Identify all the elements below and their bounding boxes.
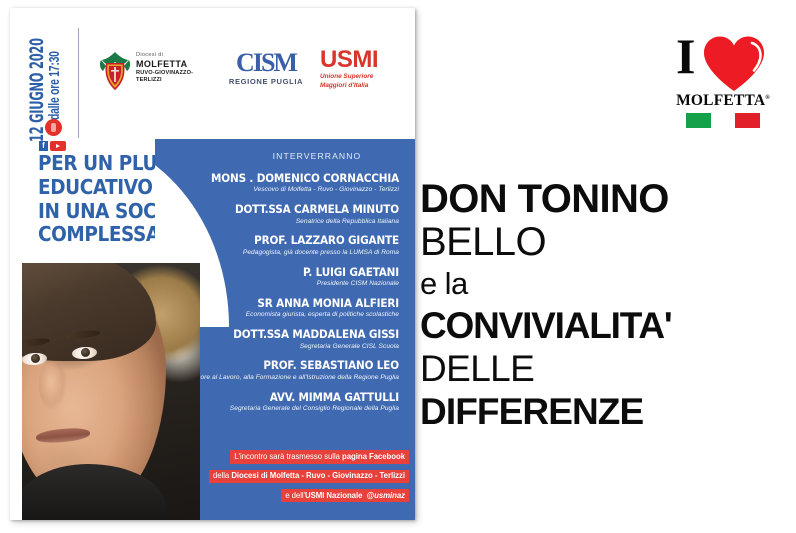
heart-icon — [702, 35, 766, 93]
letter-i: I — [676, 30, 695, 82]
bishop-mitre-coat-of-arms-icon — [98, 51, 132, 91]
diocesi-line-3: RUVO-GIOVINAZZO-TERLIZZI — [136, 70, 206, 84]
speaker-role: Presidente CISM Nazionale — [165, 280, 399, 288]
speakers-list: INTERVERRANNO MONS . DOMENICO CORNACCHIA… — [165, 151, 407, 422]
youtube-play-icon — [50, 141, 66, 151]
i-love-molfetta-logo: I MOLFETTA® — [668, 28, 778, 128]
usmi-subtitle-line-2: Maggiori d'Italia — [320, 82, 415, 91]
title-line-1: DON TONINO — [420, 178, 792, 221]
flag-stripe-green — [686, 113, 711, 128]
speaker-role: Economista giurista, esperta di politich… — [165, 311, 399, 319]
list-item: DOTT.SSA MADDALENA GISSI Segretaria Gene… — [165, 328, 399, 351]
speaker-name: P. LUIGI GAETANI — [165, 266, 399, 279]
title-line-6: DIFFERENZE — [420, 390, 792, 433]
portrait-nose — [39, 361, 73, 413]
speaker-role: Senatrice della Repubblica Italiana — [165, 218, 399, 226]
don-tonino-bello-portrait-photo — [22, 263, 200, 520]
broadcast-line-2-plain: della — [213, 471, 231, 480]
title-line-2: BELLO — [420, 221, 792, 264]
broadcast-line-3-plain: e dell' — [285, 491, 305, 500]
speaker-name: DOTT.SSA MADDALENA GISSI — [165, 328, 399, 341]
speaker-role: Segretaria Generale CISL Scuola — [165, 343, 399, 351]
datebar-divider — [78, 28, 79, 138]
portrait-eye-left — [22, 352, 47, 366]
list-item: MONS . DOMENICO CORNACCHIA Vescovo di Mo… — [165, 172, 399, 195]
usmi-subtitle: Unione Superiore Maggiori d'Italia — [320, 73, 415, 90]
cism-subtitle: REGIONE PUGLIA — [218, 77, 314, 86]
speakers-heading: INTERVERRANNO — [165, 151, 399, 161]
cism-logo: CISM REGIONE PUGLIA — [218, 48, 314, 86]
broadcast-line-2: della Diocesi di Molfetta - Ruvo - Giovi… — [209, 470, 409, 483]
cism-wordmark: CISM — [218, 48, 314, 78]
diocesi-line-1: Diocesi di — [136, 52, 206, 59]
broadcast-line-3-bold: USMI Nazionale — [305, 491, 362, 500]
page-title: DON TONINO BELLO e la CONVIVIALITA' DELL… — [420, 178, 792, 433]
facebook-icon: f — [39, 141, 48, 151]
list-item: AVV. MIMMA GATTULLI Segretaria Generale … — [165, 391, 399, 414]
speaker-role: Assessore al Lavoro, alla Formazione e a… — [165, 374, 399, 382]
list-item: PROF. SEBASTIANO LEO Assessore al Lavoro… — [165, 359, 399, 382]
screenshot-root: 12 GIUGNO 2020 dalle ore 17:30 f — [0, 0, 796, 533]
live-record-icon — [45, 119, 62, 136]
speaker-role: Segretaria Generale del Consiglio Region… — [165, 405, 399, 413]
title-line-4: CONVIVIALITA' — [420, 304, 792, 347]
registered-mark: ® — [765, 95, 770, 101]
broadcast-line-3: e dell'USMI Nazionale @usminaz — [281, 489, 409, 502]
diocesi-line-2: MOLFETTA — [136, 59, 206, 70]
speaker-role: Vescovo di Molfetta - Ruvo - Giovinazzo … — [165, 186, 399, 194]
usmi-subtitle-line-1: Unione Superiore — [320, 73, 415, 82]
flag-stripe-white — [711, 113, 736, 128]
molfetta-text: MOLFETTA — [676, 92, 765, 109]
broadcast-line-1-plain: L'incontro sarà trasmesso sulla — [234, 452, 342, 461]
event-poster-image: 12 GIUGNO 2020 dalle ore 17:30 f — [10, 8, 415, 520]
event-time-vertical: dalle ore 17:30 — [46, 51, 63, 120]
vertical-date-bar: 12 GIUGNO 2020 dalle ore 17:30 f — [24, 22, 80, 146]
broadcast-line-1-bold: pagina Facebook — [342, 452, 405, 461]
speaker-name: PROF. LAZZARO GIGANTE — [165, 234, 399, 247]
broadcast-banner: L'incontro sarà trasmesso sulla pagina F… — [165, 446, 409, 504]
speaker-name: PROF. SEBASTIANO LEO — [165, 359, 399, 372]
speaker-name: MONS . DOMENICO CORNACCHIA — [165, 172, 399, 185]
title-line-5: DELLE — [420, 347, 792, 390]
speaker-role: Pedagogista, già docente presso la LUMSA… — [165, 249, 399, 257]
broadcast-line-1: L'incontro sarà trasmesso sulla pagina F… — [230, 450, 409, 463]
list-item: DOTT.SSA CARMELA MINUTO Senatrice della … — [165, 203, 399, 226]
usmi-logo: USMI Unione Superiore Maggiori d'Italia — [320, 48, 415, 90]
speaker-name: AVV. MIMMA GATTULLI — [165, 391, 399, 404]
list-item: P. LUIGI GAETANI Presidente CISM Naziona… — [165, 266, 399, 289]
speaker-name: SR ANNA MONIA ALFIERI — [165, 297, 399, 310]
diocesi-logo-text: Diocesi di MOLFETTA RUVO-GIOVINAZZO-TERL… — [136, 52, 206, 84]
usmi-wordmark: USMI — [320, 48, 415, 72]
i-love-molfetta-row: I — [668, 28, 778, 90]
list-item: PROF. LAZZARO GIGANTE Pedagogista, già d… — [165, 234, 399, 257]
italian-flag-icon — [686, 113, 760, 128]
list-item: SR ANNA MONIA ALFIERI Economista giurist… — [165, 297, 399, 320]
speaker-name: DOTT.SSA CARMELA MINUTO — [165, 203, 399, 216]
title-line-3: e la — [420, 264, 792, 304]
flag-stripe-red — [735, 113, 760, 128]
broadcast-handle: @usminaz — [367, 491, 405, 500]
broadcast-line-2-bold: Diocesi di Molfetta - Ruvo - Giovinazzo … — [231, 471, 405, 480]
